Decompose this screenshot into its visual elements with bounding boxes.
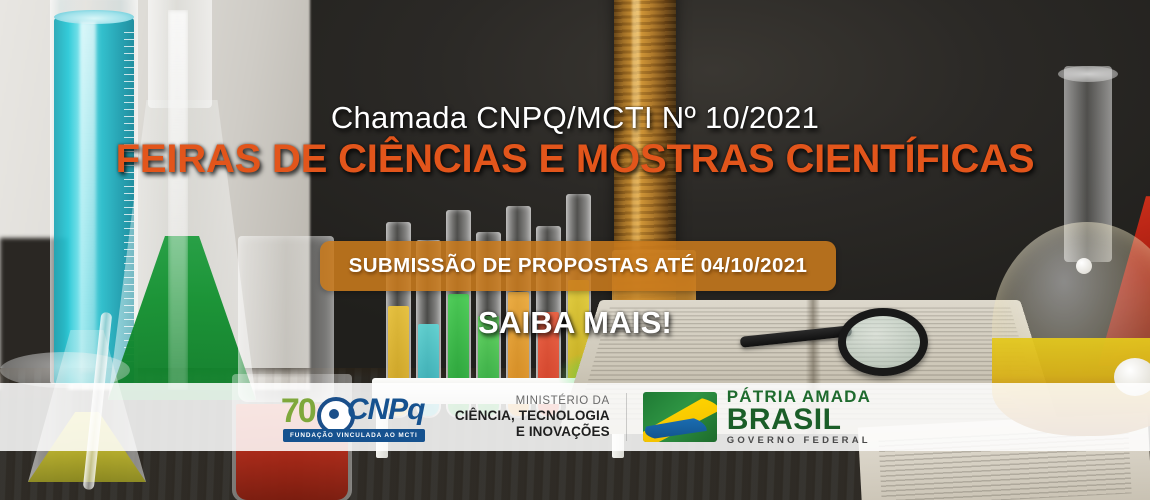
saiba-mais-link[interactable]: SAIBA MAIS!	[0, 305, 1150, 341]
ministry-line-3: E INOVAÇÕES	[455, 424, 610, 439]
submission-deadline-label: SUBMISSÃO DE PROPOSTAS ATÉ 04/10/2021	[349, 254, 808, 278]
cnpq-wordmark: CNPq	[347, 393, 425, 427]
ministry-logo[interactable]: MINISTÉRIO DA CIÊNCIA, TECNOLOGIA E INOV…	[455, 395, 610, 439]
government-line-3: GOVERNO FEDERAL	[727, 436, 871, 446]
logo-footer-bar: 70 CNPq FUNDAÇÃO VINCULADA AO MCTI MINIS…	[0, 383, 1150, 451]
government-wordmark: PÁTRIA AMADA BRASIL GOVERNO FEDERAL	[727, 388, 871, 445]
cnpq-ribbon-label: FUNDAÇÃO VINCULADA AO MCTI	[290, 432, 418, 439]
ministry-line-1: MINISTÉRIO DA	[455, 395, 610, 408]
cnpq-ribbon: FUNDAÇÃO VINCULADA AO MCTI	[283, 429, 425, 442]
government-line-2: BRASIL	[727, 405, 871, 436]
cnpq-logo[interactable]: 70 CNPq FUNDAÇÃO VINCULADA AO MCTI	[279, 389, 429, 445]
submission-deadline-button[interactable]: SUBMISSÃO DE PROPOSTAS ATÉ 04/10/2021	[320, 241, 836, 291]
brasil-flag-mark-icon	[643, 392, 717, 442]
government-logo[interactable]: PÁTRIA AMADA BRASIL GOVERNO FEDERAL	[643, 388, 871, 445]
ministry-line-2: CIÊNCIA, TECNOLOGIA	[455, 408, 610, 423]
logo-divider	[626, 393, 627, 441]
page-title: FEIRAS DE CIÊNCIAS E MOSTRAS CIENTÍFICAS	[0, 137, 1150, 182]
banner-subtitle: Chamada CNPQ/MCTI Nº 10/2021	[0, 100, 1150, 136]
promo-banner: Chamada CNPQ/MCTI Nº 10/2021 FEIRAS DE C…	[0, 0, 1150, 500]
